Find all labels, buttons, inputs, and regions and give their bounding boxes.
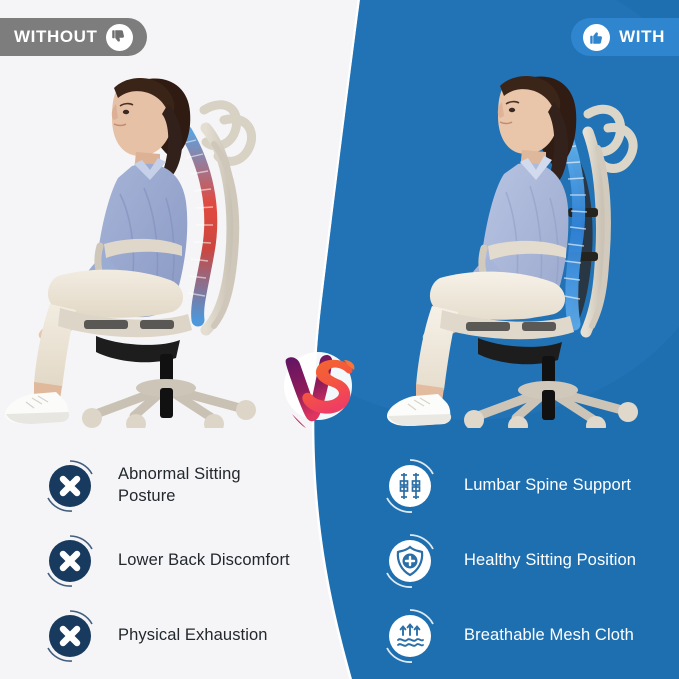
with-badge: WITH: [571, 18, 679, 56]
without-badge: WITHOUT: [0, 18, 147, 56]
list-item-label: Physical Exhaustion: [118, 625, 268, 646]
list-item: Breathable Mesh Cloth: [382, 598, 662, 673]
list-item: Lower Back Discomfort: [42, 523, 302, 598]
thumbs-down-icon: [106, 24, 133, 51]
list-item-label: Healthy Sitting Position: [464, 550, 636, 571]
lumbar-spine-icon: [382, 458, 438, 514]
list-item: Lumbar Spine Support: [382, 448, 662, 523]
list-item: Healthy Sitting Position: [382, 523, 662, 598]
list-item-label: Lower Back Discomfort: [118, 550, 290, 571]
list-item-label: Abnormal Sitting Posture: [118, 464, 302, 506]
without-badge-label: WITHOUT: [14, 27, 98, 47]
vs-mark: [270, 338, 366, 434]
with-feature-list: Lumbar Spine Support Healthy Sitting Pos…: [382, 448, 662, 673]
shield-cross-icon: [382, 533, 438, 589]
list-item-label: Breathable Mesh Cloth: [464, 625, 634, 646]
x-mark-icon: [42, 458, 98, 514]
with-chair-photo: [382, 58, 679, 428]
without-chair-photo: [0, 58, 300, 428]
x-mark-icon: [42, 533, 98, 589]
breathable-mesh-icon: [382, 608, 438, 664]
list-item: Physical Exhaustion: [42, 598, 302, 673]
without-feature-list: Abnormal Sitting Posture Lower Back Disc…: [42, 448, 302, 673]
list-item-label: Lumbar Spine Support: [464, 475, 631, 496]
thumbs-up-icon: [583, 24, 610, 51]
x-mark-icon: [42, 608, 98, 664]
with-badge-label: WITH: [619, 27, 665, 47]
infographic-root: WITHOUT WITH: [0, 0, 679, 679]
list-item: Abnormal Sitting Posture: [42, 448, 302, 523]
